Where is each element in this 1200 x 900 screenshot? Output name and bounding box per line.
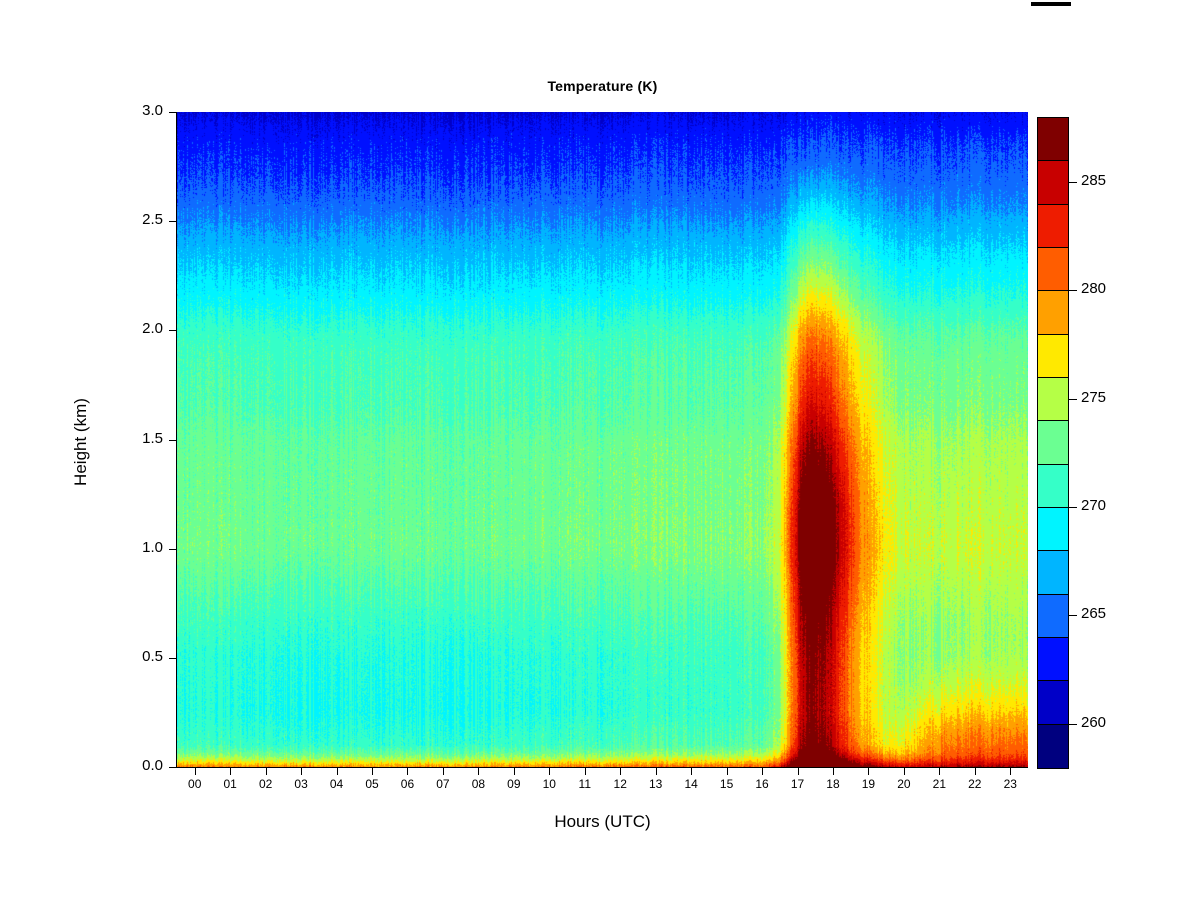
x-tick-15 <box>727 768 728 775</box>
x-tick-label-12: 12 <box>605 777 635 791</box>
y-tick-3.0 <box>169 112 176 113</box>
x-tick-04 <box>337 768 338 775</box>
x-tick-07 <box>443 768 444 775</box>
x-tick-label-23: 23 <box>995 777 1025 791</box>
colorbar-tick-285 <box>1069 182 1077 183</box>
x-tick-19 <box>868 768 869 775</box>
colorbar-band-0 <box>1038 725 1068 768</box>
x-tick-label-10: 10 <box>534 777 564 791</box>
y-tick-1.0 <box>169 549 176 550</box>
x-tick-09 <box>514 768 515 775</box>
x-tick-18 <box>833 768 834 775</box>
x-tick-06 <box>407 768 408 775</box>
x-axis-title: Hours (UTC) <box>177 812 1028 832</box>
x-tick-20 <box>904 768 905 775</box>
x-tick-label-18: 18 <box>818 777 848 791</box>
y-tick-label-2.5: 2.5 <box>117 211 163 228</box>
y-tick-label-1.5: 1.5 <box>117 430 163 447</box>
x-tick-13 <box>656 768 657 775</box>
colorbar-band-14 <box>1038 118 1068 161</box>
x-tick-16 <box>762 768 763 775</box>
x-tick-00 <box>195 768 196 775</box>
x-tick-03 <box>301 768 302 775</box>
x-tick-label-16: 16 <box>747 777 777 791</box>
x-tick-label-13: 13 <box>641 777 671 791</box>
x-tick-label-08: 08 <box>463 777 493 791</box>
x-tick-label-20: 20 <box>889 777 919 791</box>
colorbar-band-9 <box>1038 335 1068 378</box>
y-tick-1.5 <box>169 440 176 441</box>
x-tick-14 <box>691 768 692 775</box>
x-tick-22 <box>975 768 976 775</box>
colorbar-band-11 <box>1038 248 1068 291</box>
x-tick-label-22: 22 <box>960 777 990 791</box>
x-tick-label-07: 07 <box>428 777 458 791</box>
colorbar-label-265: 265 <box>1081 605 1106 622</box>
x-tick-12 <box>620 768 621 775</box>
colorbar-label-285: 285 <box>1081 172 1106 189</box>
y-tick-0.0 <box>169 767 176 768</box>
x-axis-line <box>177 767 1028 768</box>
x-tick-label-01: 01 <box>215 777 245 791</box>
y-tick-2.0 <box>169 330 176 331</box>
y-tick-0.5 <box>169 658 176 659</box>
colorbar-tick-265 <box>1069 615 1077 616</box>
colorbar-band-3 <box>1038 595 1068 638</box>
x-tick-label-19: 19 <box>853 777 883 791</box>
x-tick-label-05: 05 <box>357 777 387 791</box>
x-tick-01 <box>230 768 231 775</box>
x-tick-label-14: 14 <box>676 777 706 791</box>
x-tick-label-21: 21 <box>924 777 954 791</box>
x-tick-21 <box>939 768 940 775</box>
colorbar-band-13 <box>1038 161 1068 204</box>
x-tick-23 <box>1010 768 1011 775</box>
colorbar <box>1037 117 1069 769</box>
x-tick-label-15: 15 <box>712 777 742 791</box>
x-tick-label-09: 09 <box>499 777 529 791</box>
x-tick-label-02: 02 <box>251 777 281 791</box>
x-tick-label-04: 04 <box>322 777 352 791</box>
colorbar-band-8 <box>1038 378 1068 421</box>
y-tick-label-0.0: 0.0 <box>117 757 163 774</box>
colorbar-band-12 <box>1038 205 1068 248</box>
y-tick-2.5 <box>169 221 176 222</box>
colorbar-label-270: 270 <box>1081 497 1106 514</box>
x-tick-label-11: 11 <box>570 777 600 791</box>
x-tick-17 <box>798 768 799 775</box>
temperature-field-canvas <box>177 112 1028 767</box>
x-tick-label-17: 17 <box>783 777 813 791</box>
colorbar-band-5 <box>1038 508 1068 551</box>
colorbar-tick-280 <box>1069 290 1077 291</box>
x-tick-11 <box>585 768 586 775</box>
y-tick-label-3.0: 3.0 <box>117 102 163 119</box>
colorbar-label-260: 260 <box>1081 714 1106 731</box>
x-tick-label-06: 06 <box>392 777 422 791</box>
y-tick-label-0.5: 0.5 <box>117 648 163 665</box>
colorbar-tick-260 <box>1069 724 1077 725</box>
colorbar-tick-275 <box>1069 399 1077 400</box>
colorbar-band-6 <box>1038 465 1068 508</box>
y-tick-label-2.0: 2.0 <box>117 320 163 337</box>
y-axis-line <box>176 112 177 768</box>
plot-title: Temperature (K) <box>177 78 1028 94</box>
x-tick-05 <box>372 768 373 775</box>
colorbar-band-7 <box>1038 421 1068 464</box>
contour-plot-panel <box>177 112 1028 767</box>
x-tick-10 <box>549 768 550 775</box>
y-tick-label-1.0: 1.0 <box>117 539 163 556</box>
figure-canvas: Temperature (K) 000102030405060708091011… <box>0 0 1200 900</box>
colorbar-band-2 <box>1038 638 1068 681</box>
colorbar-label-275: 275 <box>1081 389 1106 406</box>
colorbar-band-4 <box>1038 551 1068 594</box>
colorbar-band-1 <box>1038 681 1068 724</box>
stray-black-bar-artifact <box>1031 2 1071 6</box>
colorbar-band-10 <box>1038 291 1068 334</box>
x-tick-02 <box>266 768 267 775</box>
x-tick-label-00: 00 <box>180 777 210 791</box>
y-axis-title: Height (km) <box>71 342 91 542</box>
colorbar-tick-270 <box>1069 507 1077 508</box>
colorbar-label-280: 280 <box>1081 280 1106 297</box>
x-tick-08 <box>478 768 479 775</box>
x-tick-label-03: 03 <box>286 777 316 791</box>
